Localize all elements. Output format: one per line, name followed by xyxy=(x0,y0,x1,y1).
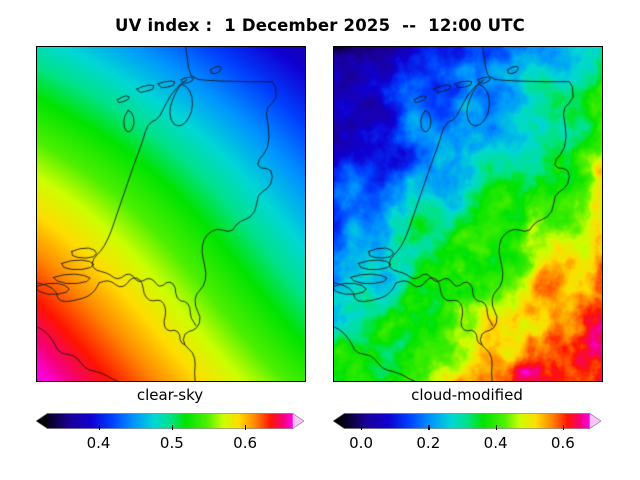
colorbar-tick xyxy=(172,425,173,430)
coastline-overlay-clear-sky xyxy=(37,47,305,381)
colorbar-tick-label: 0.5 xyxy=(160,434,184,452)
colorbar-tick xyxy=(428,425,429,430)
colorbar-tick xyxy=(99,425,100,430)
colorbar-tick xyxy=(245,425,246,430)
coastline-overlay-cloud-modified xyxy=(334,47,602,381)
colorbar-clear-sky: 0.40.50.6 xyxy=(36,412,304,472)
colorbar-tick xyxy=(496,425,497,430)
colorbar-tick-label: 0.6 xyxy=(233,434,257,452)
map-panel-cloud-modified[interactable] xyxy=(333,46,603,382)
colorbar-gradient-clear-sky xyxy=(36,412,304,430)
colorbar-tick-label: 0.6 xyxy=(551,434,575,452)
colorbar-tick xyxy=(563,425,564,430)
colorbar-tick-label: 0.2 xyxy=(416,434,440,452)
panel-label-clear-sky: clear-sky xyxy=(35,386,305,404)
colorbar-tick xyxy=(361,425,362,430)
figure-title: UV index : 1 December 2025 -- 12:00 UTC xyxy=(0,16,640,35)
colorbar-tick-label: 0.4 xyxy=(484,434,508,452)
colorbar-gradient-cloud-modified xyxy=(333,412,601,430)
map-panel-clear-sky[interactable] xyxy=(36,46,306,382)
colorbar-tick-label: 0.4 xyxy=(87,434,111,452)
panel-label-cloud-modified: cloud-modified xyxy=(332,386,602,404)
colorbar-cloud-modified: 0.00.20.40.6 xyxy=(333,412,601,472)
colorbar-tick-labels-clear-sky: 0.40.50.6 xyxy=(36,434,304,458)
colorbar-tick-labels-cloud-modified: 0.00.20.40.6 xyxy=(333,434,601,458)
figure-canvas: UV index : 1 December 2025 -- 12:00 UTC … xyxy=(0,0,640,480)
colorbar-tick-label: 0.0 xyxy=(349,434,373,452)
